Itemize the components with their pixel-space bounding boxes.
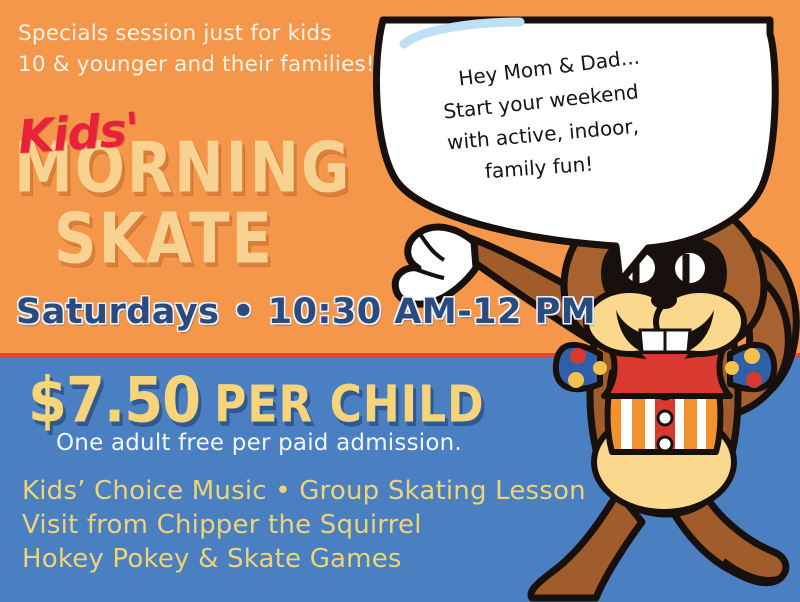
price-amount: $7.50 [28, 364, 200, 437]
feature-line-3: Hokey Pokey & Skate Games [22, 542, 586, 576]
schedule-text: Saturdays • 10:30 AM-12 PM [16, 292, 596, 332]
feature-line-1: Kids’ Choice Music • Group Skating Lesso… [22, 474, 586, 508]
tagline: Specials session just for kids 10 & youn… [18, 18, 438, 80]
page-title-kids: Kids' [16, 102, 140, 164]
poster-canvas: Hey Mom & Dad... Start your weekend with… [0, 0, 800, 602]
feature-list: Kids’ Choice Music • Group Skating Lesso… [22, 474, 586, 576]
tagline-line-1: Specials session just for kids [18, 18, 438, 49]
page-title-skate: SKATE [54, 207, 351, 271]
tagline-line-2: 10 & younger and their families! [18, 49, 438, 80]
price-note: One adult free per paid admission. [56, 430, 462, 456]
price-block: $7.50 PER CHILD [28, 372, 485, 437]
price-unit: PER CHILD [214, 375, 485, 434]
feature-line-2: Visit from Chipper the Squirrel [22, 508, 586, 542]
